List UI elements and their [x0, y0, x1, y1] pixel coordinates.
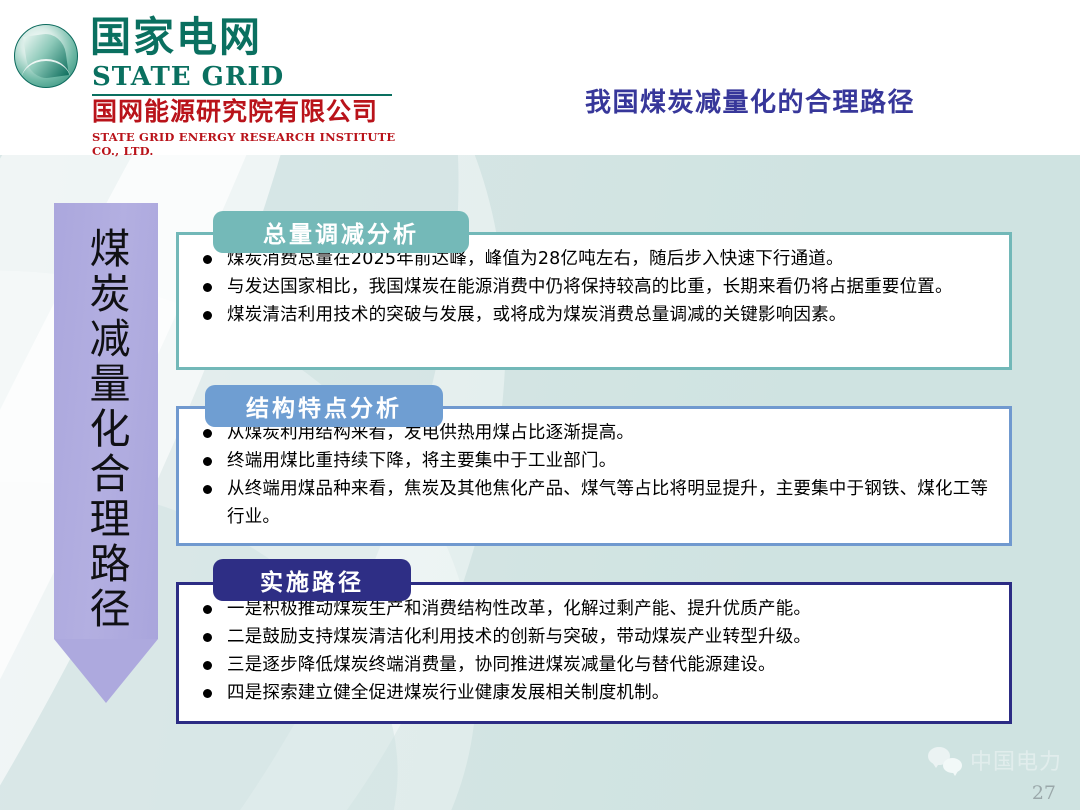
slide-canvas: 国家电网 STATE GRID 国网能源研究院有限公司 STATE GRID E… — [0, 0, 1080, 810]
logo-institute-en: STATE GRID ENERGY RESEARCH INSTITUTE CO.… — [92, 130, 426, 158]
section-body: 从煤炭利用结构来看，发电供热用煤占比逐渐提高。 终端用煤比重持续下降，将主要集中… — [179, 409, 1009, 537]
side-arrow-banner: 煤炭减量化合理路径 — [54, 203, 158, 703]
wechat-icon — [928, 747, 962, 773]
logo-company-cn: 国家电网 — [90, 16, 262, 59]
watermark-label: 中国电力 — [970, 744, 1062, 776]
section-tab-structure[interactable]: 结构特点分析 — [205, 385, 443, 427]
section-body: 一是积极推动煤炭生产和消费结构性改革，化解过剩产能、提升优质产能。 二是鼓励支持… — [179, 585, 1009, 713]
arrow-banner-head-icon — [54, 639, 158, 703]
page-number: 27 — [1032, 782, 1056, 804]
bullet-list: 煤炭消费总量在2025年前达峰，峰值为28亿吨左右，随后步入快速下行通道。 与发… — [197, 245, 995, 329]
wechat-watermark: 中国电力 — [928, 744, 1062, 776]
page-title: 我国煤炭减量化的合理路径 — [520, 82, 980, 119]
list-item: 从终端用煤品种来看，焦炭及其他焦化产品、煤气等占比将明显提升，主要集中于钢铁、煤… — [197, 475, 995, 531]
logo-company-en: STATE GRID — [92, 62, 284, 92]
list-item: 与发达国家相比，我国煤炭在能源消费中仍将保持较高的比重，长期来看仍将占据重要位置… — [197, 273, 995, 301]
list-item: 三是逐步降低煤炭终端消费量，协同推进煤炭减量化与替代能源建设。 — [197, 651, 995, 679]
logo-institute-cn: 国网能源研究院有限公司 — [92, 98, 378, 127]
slide-header: 国家电网 STATE GRID 国网能源研究院有限公司 STATE GRID E… — [0, 0, 1080, 155]
section-tab-implementation[interactable]: 实施路径 — [213, 559, 411, 601]
arrow-banner-label: 煤炭减量化合理路径 — [54, 227, 158, 647]
bullet-list: 一是积极推动煤炭生产和消费结构性改革，化解过剩产能、提升优质产能。 二是鼓励支持… — [197, 595, 995, 707]
logo-divider — [92, 94, 392, 96]
list-item: 煤炭清洁利用技术的突破与发展，或将成为煤炭消费总量调减的关键影响因素。 — [197, 301, 995, 329]
list-item: 终端用煤比重持续下降，将主要集中于工业部门。 — [197, 447, 995, 475]
state-grid-emblem-icon — [14, 24, 78, 88]
list-item: 四是探索建立健全促进煤炭行业健康发展相关制度机制。 — [197, 679, 995, 707]
list-item: 二是鼓励支持煤炭清洁化利用技术的创新与突破，带动煤炭产业转型升级。 — [197, 623, 995, 651]
section-tab-total-volume[interactable]: 总量调减分析 — [213, 211, 469, 253]
section-panel-implementation: 一是积极推动煤炭生产和消费结构性改革，化解过剩产能、提升优质产能。 二是鼓励支持… — [176, 582, 1012, 724]
organization-logo: 国家电网 STATE GRID 国网能源研究院有限公司 STATE GRID E… — [6, 14, 426, 144]
section-panel-structure: 从煤炭利用结构来看，发电供热用煤占比逐渐提高。 终端用煤比重持续下降，将主要集中… — [176, 406, 1012, 546]
bullet-list: 从煤炭利用结构来看，发电供热用煤占比逐渐提高。 终端用煤比重持续下降，将主要集中… — [197, 419, 995, 531]
